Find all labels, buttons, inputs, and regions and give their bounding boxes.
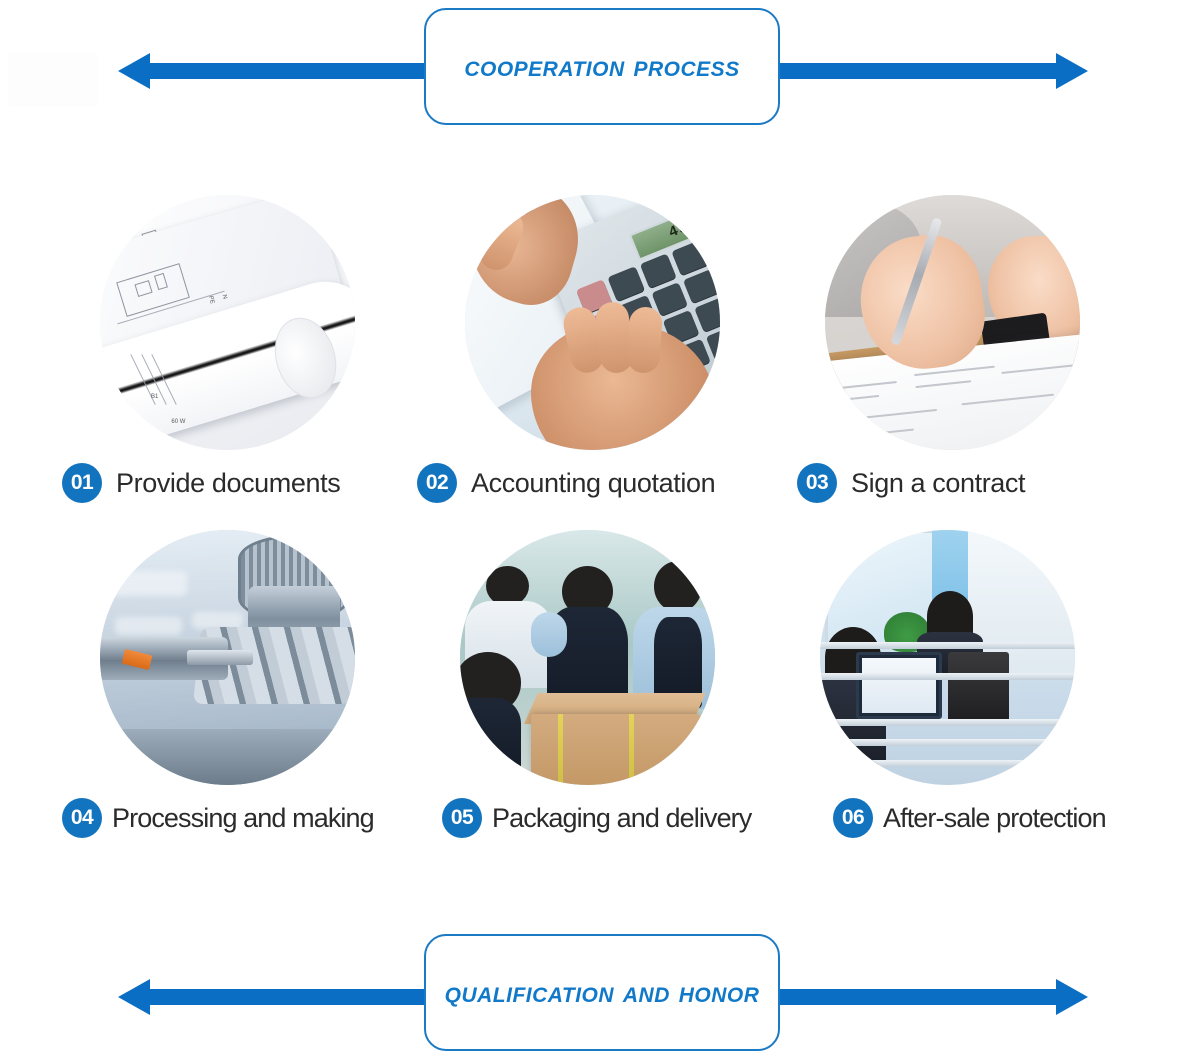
step-04-image — [100, 530, 355, 785]
step-01-image: A PE N 60 W B1 — [100, 195, 355, 450]
step-04-label: Processing and making — [112, 803, 374, 834]
step-06-image — [820, 530, 1075, 785]
step-card-01[interactable]: A PE N 60 W B1 — [100, 195, 480, 503]
cnc-machining-photo — [100, 530, 355, 785]
step-card-02[interactable]: 4545 — [465, 195, 845, 503]
step-05-image — [460, 530, 715, 785]
step-06-badge: 06 — [833, 798, 873, 838]
bottom-banner-box: Qualification and honor — [424, 934, 780, 1051]
steps-row-1: A PE N 60 W B1 — [0, 180, 1200, 530]
hands-calculator-photo: 4545 — [465, 195, 720, 450]
steps-row-2: 04 Processing and making — [0, 530, 1200, 880]
step-02-label: Accounting quotation — [471, 468, 715, 499]
top-banner: Cooperation process — [0, 0, 1200, 130]
step-03-badge: 03 — [797, 463, 837, 503]
step-02-image: 4545 — [465, 195, 720, 450]
top-banner-box: Cooperation process — [424, 8, 780, 125]
step-card-03[interactable]: 03 Sign a contract — [825, 195, 1200, 503]
cardboard-box — [531, 714, 699, 785]
step-05-caption: 05 Packaging and delivery — [442, 798, 840, 838]
step-02-badge: 02 — [417, 463, 457, 503]
step-card-04[interactable]: 04 Processing and making — [100, 530, 480, 838]
packaging-workers-photo — [460, 530, 715, 785]
step-04-badge: 04 — [62, 798, 102, 838]
step-01-badge: 01 — [62, 463, 102, 503]
step-02-caption: 02 Accounting quotation — [417, 463, 845, 503]
step-06-caption: 06 After-sale protection — [833, 798, 1200, 838]
step-03-label: Sign a contract — [851, 468, 1025, 499]
bottom-banner: Qualification and honor — [0, 926, 1200, 1056]
step-card-05[interactable]: 05 Packaging and delivery — [460, 530, 840, 838]
office-support-team-photo — [820, 530, 1075, 785]
step-card-06[interactable]: 06 After-sale protection — [820, 530, 1200, 838]
step-05-badge: 05 — [442, 798, 482, 838]
rolled-blueprint-drawings-photo: A PE N 60 W B1 — [100, 195, 355, 450]
cooperation-process-infographic: Cooperation process A — [0, 0, 1200, 1056]
step-03-caption: 03 Sign a contract — [797, 463, 1200, 503]
bottom-banner-title: Qualification and honor — [445, 976, 760, 1010]
steps-grid: A PE N 60 W B1 — [0, 180, 1200, 880]
step-01-label: Provide documents — [116, 468, 340, 499]
step-04-caption: 04 Processing and making — [62, 798, 480, 838]
step-05-label: Packaging and delivery — [492, 803, 751, 834]
signing-contract-photo — [825, 195, 1080, 450]
top-banner-title: Cooperation process — [464, 50, 739, 84]
step-03-image — [825, 195, 1080, 450]
step-06-label: After-sale protection — [883, 803, 1106, 834]
